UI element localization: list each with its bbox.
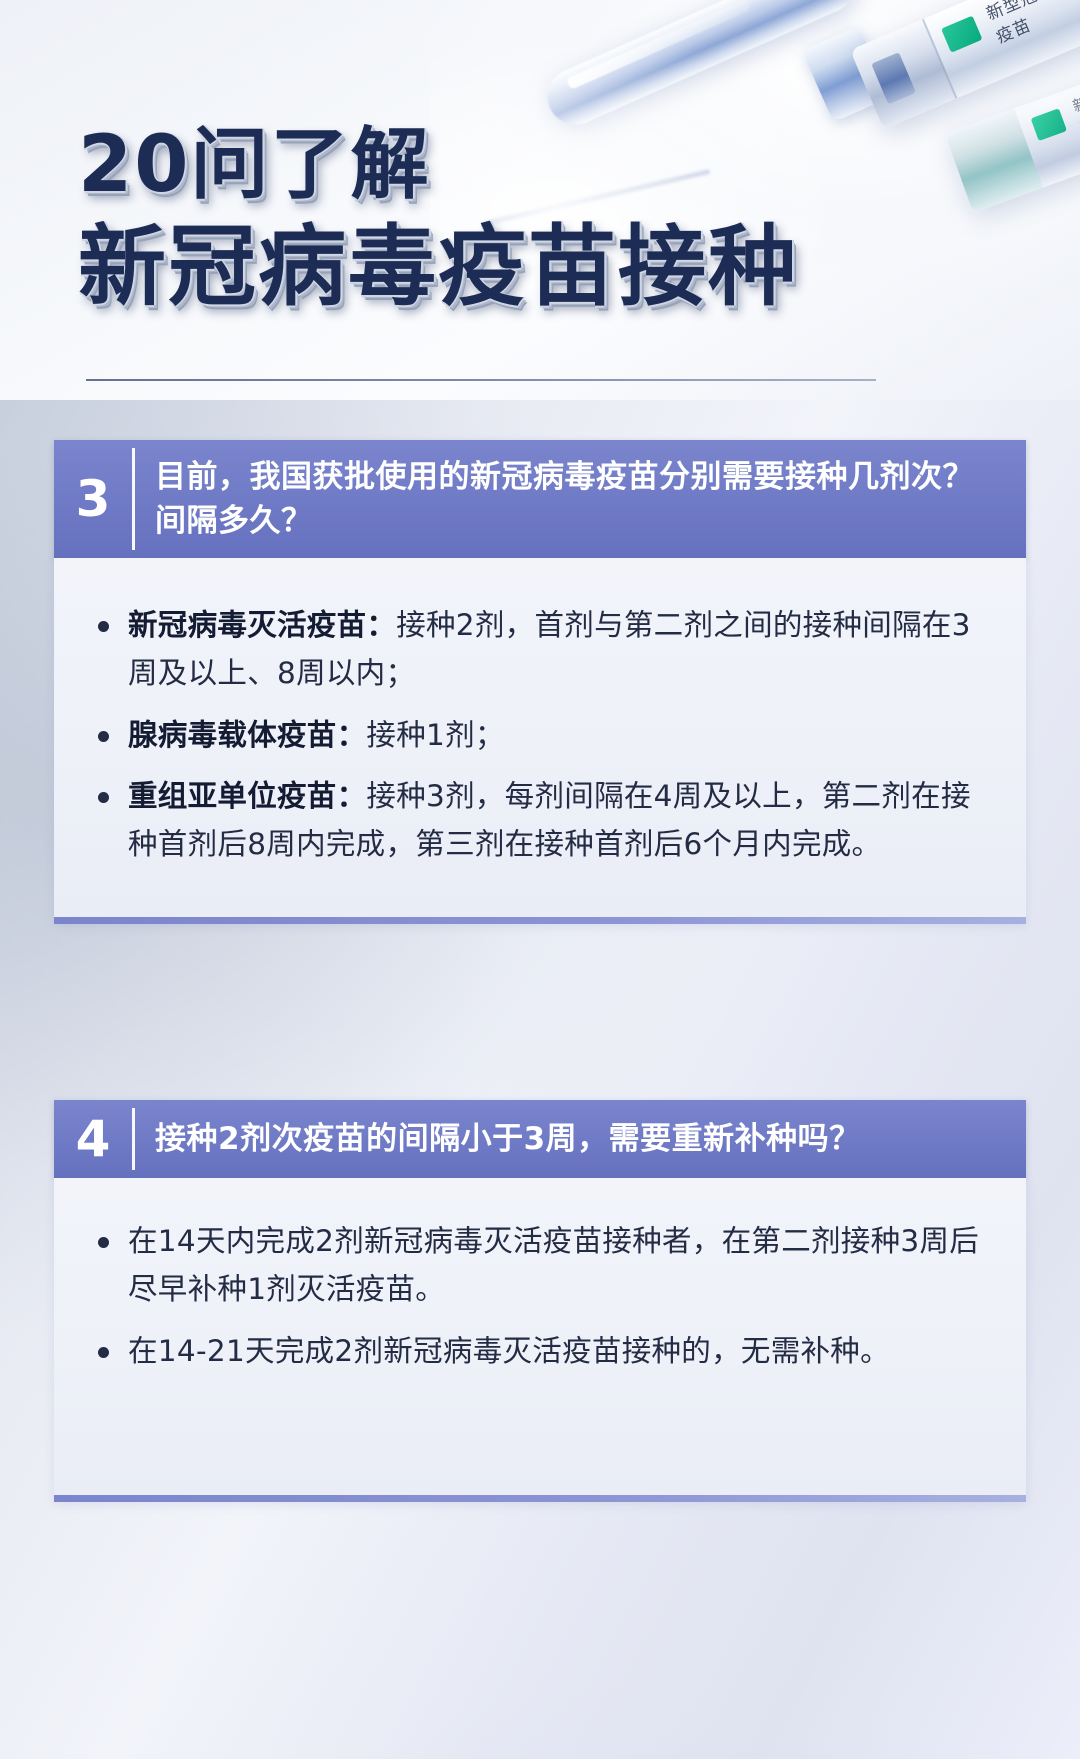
question-text-3: 目前，我国获批使用的新冠病毒疫苗分别需要接种几剂次？间隔多久？ bbox=[135, 440, 1026, 558]
qa-block-3: 3 目前，我国获批使用的新冠病毒疫苗分别需要接种几剂次？间隔多久？ 新冠病毒灭活… bbox=[54, 440, 1026, 924]
answer-panel-4: 在14天内完成2剂新冠病毒灭活疫苗接种者，在第二剂接种3周后尽早补种1剂灭活疫苗… bbox=[54, 1178, 1026, 1502]
bullet-icon bbox=[98, 792, 109, 803]
vial-back-label: 新型冠状病毒灭活疫苗 bbox=[1070, 47, 1080, 139]
question-number-3: 3 bbox=[54, 440, 132, 558]
question-divider bbox=[132, 448, 135, 550]
bullet-icon bbox=[98, 731, 109, 742]
question-divider bbox=[132, 1108, 135, 1170]
answer-item: 腺病毒载体疫苗：接种1剂； bbox=[94, 712, 986, 760]
poster-title: 20问了解 新冠病毒疫苗接种 bbox=[78, 126, 958, 311]
vial-cap-icon bbox=[945, 109, 1043, 213]
answer-lead: 重组亚单位疫苗： bbox=[128, 779, 366, 813]
answer-item: 在14天内完成2剂新冠病毒灭活疫苗接种者，在第二剂接种3周后尽早补种1剂灭活疫苗… bbox=[94, 1218, 986, 1314]
vial-cap-icon bbox=[850, 19, 957, 129]
answer-rest: 在14天内完成2剂新冠病毒灭活疫苗接种者，在第二剂接种3周后尽早补种1剂灭活疫苗… bbox=[128, 1224, 979, 1306]
answer-panel-3: 新冠病毒灭活疫苗：接种2剂，首剂与第二剂之间的接种间隔在3周及以上、8周以内； … bbox=[54, 558, 1026, 924]
title-line-primary: 20问了解 bbox=[78, 126, 958, 206]
answer-list-3: 新冠病毒灭活疫苗：接种2剂，首剂与第二剂之间的接种间隔在3周及以上、8周以内； … bbox=[94, 602, 986, 869]
bullet-icon bbox=[98, 621, 109, 632]
answer-rest: 接种1剂； bbox=[366, 718, 504, 752]
answer-rest: 在14-21天完成2剂新冠病毒灭活疫苗接种的，无需补种。 bbox=[128, 1334, 890, 1368]
vial-green-marker bbox=[1031, 108, 1067, 141]
answer-lead: 新冠病毒灭活疫苗： bbox=[128, 608, 396, 642]
poster-root: 新型冠状病毒灭活疫苗 新型冠状病毒灭活疫苗 20问了解 新冠病毒疫苗接种 3 目… bbox=[0, 0, 1080, 1759]
answer-item: 重组亚单位疫苗：接种3剂，每剂间隔在4周及以上，第二剂在接种首剂后8周内完成，第… bbox=[94, 773, 986, 869]
answer-item: 在14-21天完成2剂新冠病毒灭活疫苗接种的，无需补种。 bbox=[94, 1328, 986, 1376]
bullet-icon bbox=[98, 1237, 109, 1248]
bullet-icon bbox=[98, 1347, 109, 1358]
question-header-4: 4 接种2剂次疫苗的间隔小于3周，需要重新补种吗？ bbox=[54, 1100, 1026, 1178]
title-divider bbox=[86, 379, 876, 381]
answer-item: 新冠病毒灭活疫苗：接种2剂，首剂与第二剂之间的接种间隔在3周及以上、8周以内； bbox=[94, 602, 986, 698]
vial-green-marker bbox=[941, 16, 982, 53]
question-text-4: 接种2剂次疫苗的间隔小于3周，需要重新补种吗？ bbox=[135, 1100, 1026, 1178]
answer-lead: 腺病毒载体疫苗： bbox=[128, 718, 366, 752]
answer-list-4: 在14天内完成2剂新冠病毒灭活疫苗接种者，在第二剂接种3周后尽早补种1剂灭活疫苗… bbox=[94, 1218, 986, 1375]
title-line-secondary: 新冠病毒疫苗接种 bbox=[78, 222, 958, 312]
qa-block-4: 4 接种2剂次疫苗的间隔小于3周，需要重新补种吗？ 在14天内完成2剂新冠病毒灭… bbox=[54, 1100, 1026, 1502]
question-header-3: 3 目前，我国获批使用的新冠病毒疫苗分别需要接种几剂次？间隔多久？ bbox=[54, 440, 1026, 558]
question-number-4: 4 bbox=[54, 1100, 132, 1178]
vial-front-label: 新型冠状病毒灭活疫苗 bbox=[983, 0, 1080, 50]
